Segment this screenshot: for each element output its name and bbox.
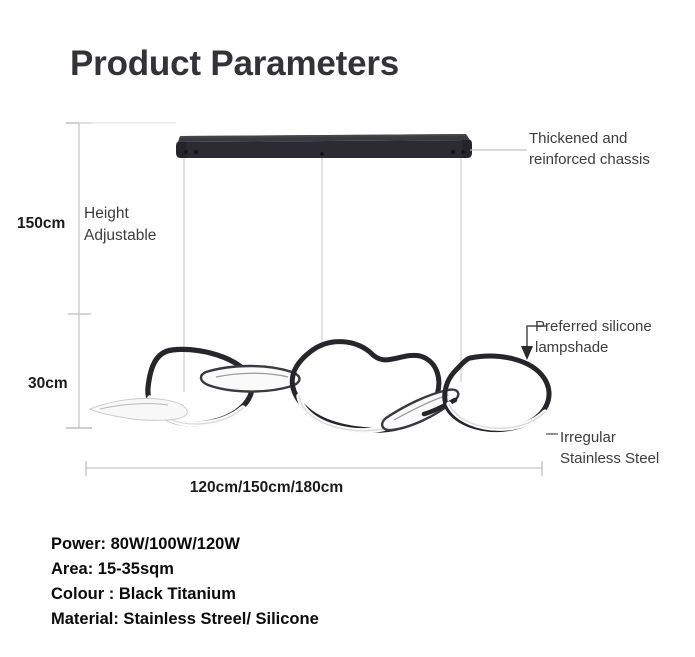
callout-irregular-stainless-steel: Irregular Stainless Steel (560, 427, 659, 470)
callout-preferred-silicone: Preferred silicone lampshade (535, 316, 652, 359)
dimension-label-height-total: 150cm (17, 215, 65, 233)
callout-steel-line-2: Stainless Steel (560, 448, 659, 469)
callout-steel-line-1: Irregular (560, 427, 659, 448)
chassis-bar (176, 134, 472, 158)
callout-thickened-chassis: Thickened and reinforced chassis (529, 128, 650, 171)
callout-silicone-line-1: Preferred silicone (535, 316, 652, 337)
specifications-list: Power: 80W/100W/120W Area: 15-35sqm Colo… (51, 532, 319, 632)
product-parameters-diagram: Product Parameters (0, 0, 695, 657)
dimension-label-width-options: 120cm/150cm/180cm (0, 479, 614, 497)
callout-chassis-line-1: Thickened and (529, 128, 650, 149)
spec-material: Material: Stainless Streel/ Silicone (51, 607, 319, 632)
vertical-dimension-line (66, 123, 92, 428)
spec-area: Area: 15-35sqm (51, 557, 319, 582)
lamp-ring-right (424, 356, 549, 430)
callout-chassis-line-2: reinforced chassis (529, 149, 650, 170)
lamp-tail-left (90, 398, 187, 420)
width-dimension-line (86, 461, 542, 476)
height-note-line-1: Height (84, 203, 156, 225)
spec-colour: Colour : Black Titanium (51, 582, 319, 607)
spec-power: Power: 80W/100W/120W (51, 532, 319, 557)
height-note-line-2: Adjustable (84, 225, 156, 247)
lamp-connector-left (201, 366, 300, 392)
dimension-label-fixture-height: 30cm (28, 375, 68, 393)
height-adjustable-note: Height Adjustable (84, 203, 156, 247)
callout-silicone-line-2: lampshade (535, 337, 652, 358)
